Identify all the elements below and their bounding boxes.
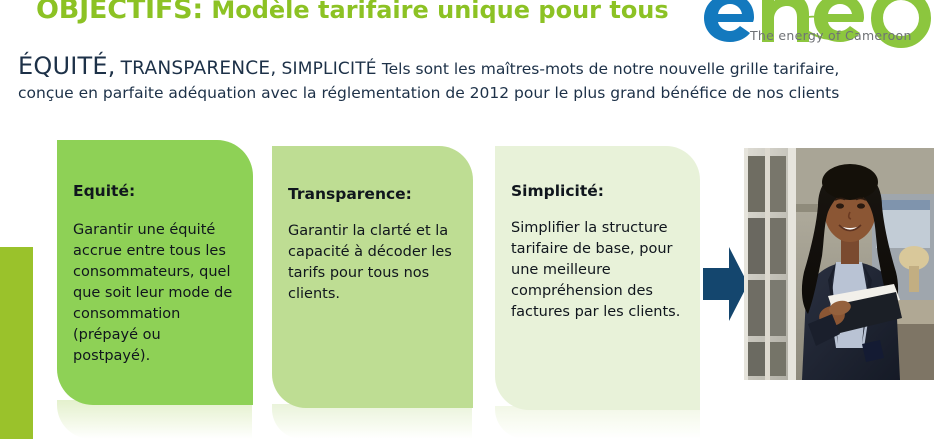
eneo-logo: The energy of Cameroon [700,0,936,50]
panel-simplicite-heading: Simplicité: [511,182,684,200]
left-accent-bar [0,247,33,439]
panel-equite-heading: Equité: [73,182,237,200]
panel-transparence-heading: Transparence: [288,185,457,203]
panel-equite: Equité: Garantir une équité accrue entre… [57,140,253,405]
intro-keyword-transparence: TRANSPARENCE, [121,58,277,79]
panel-transparence: Transparence: Garantir la clarté et la c… [272,146,473,408]
panel-reflection-simplicite [495,406,700,439]
businesswoman-photo [744,148,934,380]
panel-reflection-equite [57,400,252,439]
intro-line-2: conçue en parfaite adéquation avec la ré… [18,81,918,105]
panel-equite-body: Garantir une équité accrue entre tous le… [73,220,237,367]
intro-line-1-rest: Tels sont les maîtres-mots de notre nouv… [382,60,840,78]
intro-paragraph: ÉQUITÉ, TRANSPARENCE, SIMPLICITÉ Tels so… [18,54,918,105]
page-title-rest: Modèle tarifaire unique pour tous [203,0,669,24]
page-title: OBJECTIFS: Modèle tarifaire unique pour … [36,0,669,26]
panel-simplicite: Simplicité: Simplifier la structure tari… [495,146,700,410]
panel-simplicite-body: Simplifier la structure tarifaire de bas… [511,218,684,323]
eneo-tagline: The energy of Cameroon [750,28,912,43]
panel-reflection-transparence [272,404,472,439]
photo-illustration [744,148,934,380]
intro-line-1: ÉQUITÉ, TRANSPARENCE, SIMPLICITÉ Tels so… [18,54,918,81]
page-title-strong: OBJECTIFS: [36,0,203,25]
intro-keyword-simplicite: SIMPLICITÉ [282,59,377,79]
arrow-right-icon [703,245,748,323]
intro-keyword-equite: ÉQUITÉ, [18,52,116,80]
panel-transparence-body: Garantir la clarté et la capacité à déco… [288,221,457,305]
